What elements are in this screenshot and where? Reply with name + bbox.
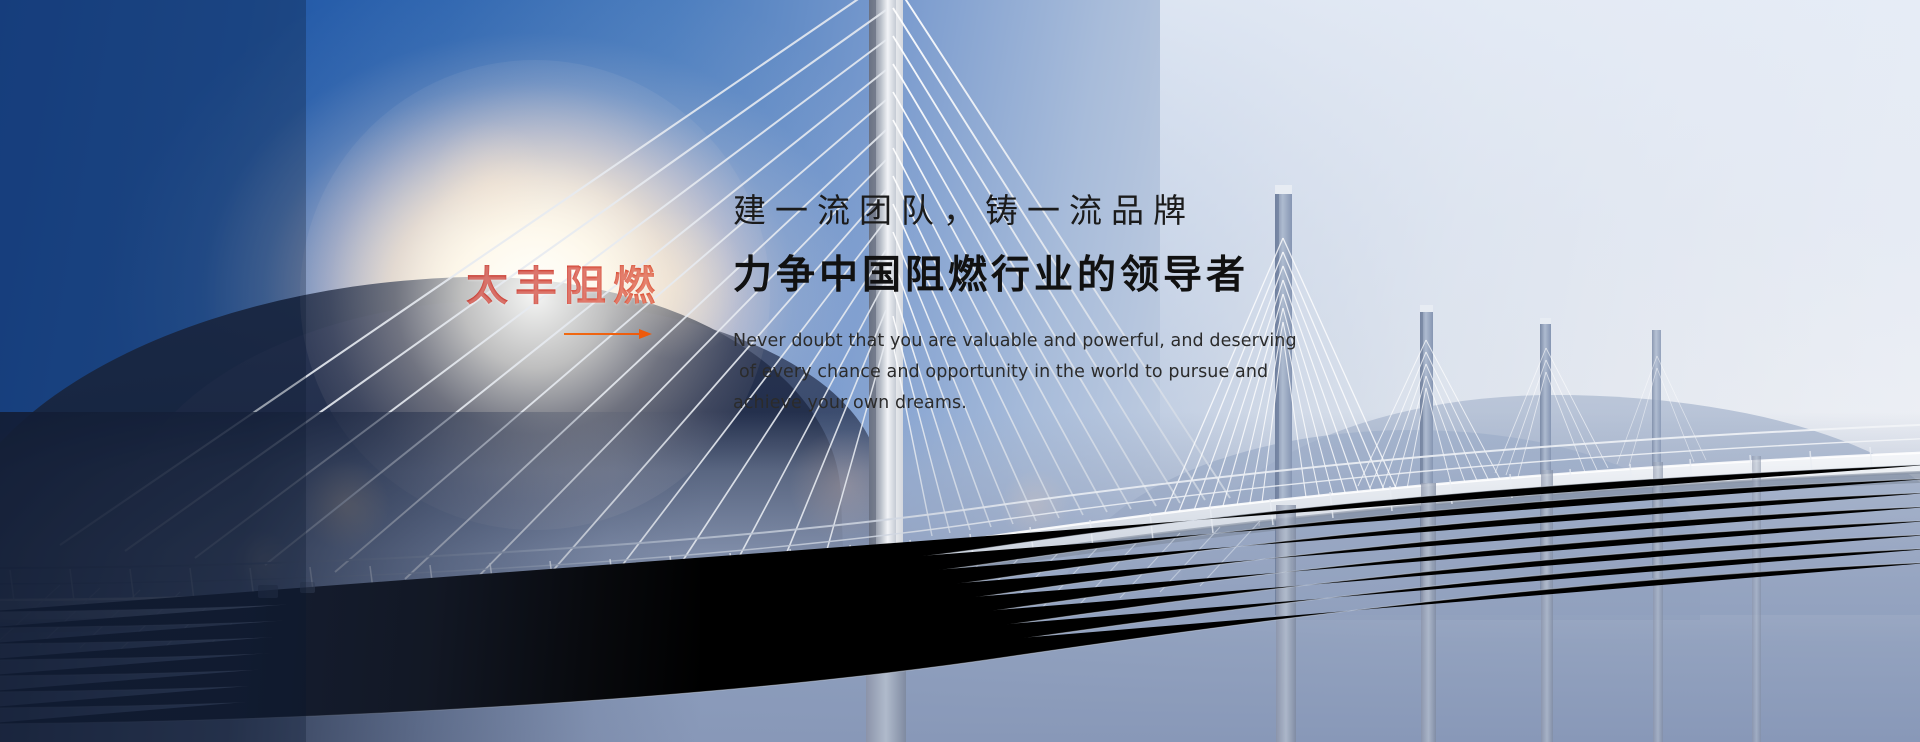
- hero-description: Never doubt that you are valuable and po…: [733, 326, 1297, 419]
- brand-logo[interactable]: 太丰阻燃: [466, 265, 696, 339]
- brand-logo-text: 太丰阻燃: [466, 265, 696, 307]
- hero-banner: 太丰阻燃 建一流团队，铸一流品牌 力争中国阻燃行业的领导者 Never doub…: [0, 0, 1920, 742]
- hero-description-line-3: achieve your own dreams.: [733, 393, 967, 413]
- arrow-head: [639, 329, 652, 339]
- hero-text-block: 建一流团队，铸一流品牌 力争中国阻燃行业的领导者 Never doubt tha…: [733, 190, 1297, 419]
- hero-description-line-2: of every chance and opportunity in the w…: [733, 357, 1297, 388]
- banner-content: 太丰阻燃 建一流团队，铸一流品牌 力争中国阻燃行业的领导者 Never doub…: [0, 0, 1920, 742]
- hero-headline-secondary: 力争中国阻燃行业的领导者: [733, 251, 1297, 302]
- hero-headline-primary: 建一流团队，铸一流品牌: [733, 190, 1297, 231]
- hero-description-line-1: Never doubt that you are valuable and po…: [733, 331, 1297, 351]
- arrow-shaft: [564, 333, 644, 335]
- arrow-right-icon: [564, 329, 652, 339]
